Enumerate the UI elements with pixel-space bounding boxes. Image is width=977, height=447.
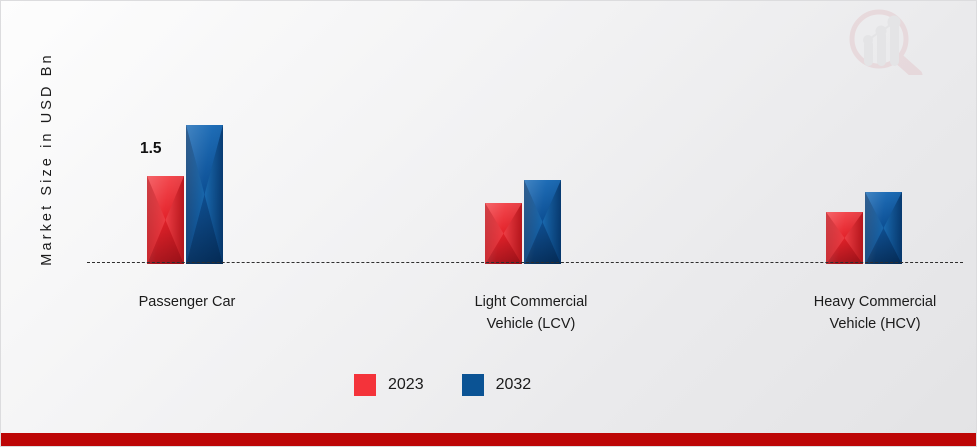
legend-swatch-2023 [354,374,376,396]
bar-2032-hcv[interactable] [865,192,902,264]
legend-swatch-2032 [462,374,484,396]
bar-chart-figure: Market Size in USD Bn [0,0,977,447]
bar-group-lcv [485,61,585,264]
bar-2023-passenger-car[interactable] [147,176,184,264]
legend-label-2032: 2032 [496,376,532,394]
plot-area [87,61,963,264]
y-axis-title: Market Size in USD Bn [33,9,61,309]
bar-2032-passenger-car[interactable] [186,125,223,264]
legend-item-2023[interactable]: 2023 [354,374,424,396]
legend-item-2032[interactable]: 2032 [462,374,532,396]
axis-baseline [87,262,963,263]
legend-label-2023: 2023 [388,376,424,394]
bar-2023-hcv[interactable] [826,212,863,264]
data-label-passenger-car-2023: 1.5 [140,140,162,158]
category-label-hcv: Heavy Commercial Vehicle (HCV) [779,291,971,335]
bar-group-passenger-car [147,61,247,264]
bar-group-hcv [826,61,926,264]
category-label-passenger-car: Passenger Car [97,291,277,313]
category-label-line: Light Commercial [435,291,627,313]
category-label-line: Vehicle (HCV) [779,313,971,335]
category-label-lcv: Light Commercial Vehicle (LCV) [435,291,627,335]
bar-2032-lcv[interactable] [524,180,561,264]
footer-accent-bar [1,433,977,446]
chart-legend: 2023 2032 [354,374,531,396]
category-label-line: Vehicle (LCV) [435,313,627,335]
bar-2023-lcv[interactable] [485,203,522,264]
category-label-line: Heavy Commercial [779,291,971,313]
category-label-line: Passenger Car [97,291,277,313]
